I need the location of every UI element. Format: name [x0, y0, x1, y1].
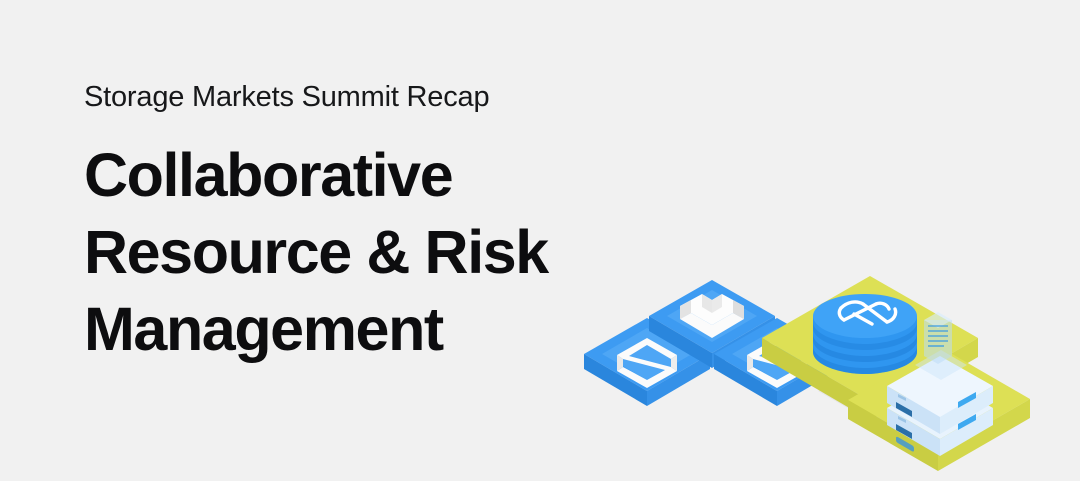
hero-text-block: Storage Markets Summit Recap Collaborati…: [84, 78, 604, 409]
hero-banner: Storage Markets Summit Recap Collaborati…: [0, 0, 1080, 481]
headline-line-3: Management: [84, 291, 604, 368]
database-cylinder: [813, 294, 917, 374]
headline-line-2: Resource & Risk: [84, 214, 604, 291]
isometric-illustration: [560, 228, 1030, 481]
page-title: Collaborative Resource & Risk Management: [84, 137, 604, 368]
headline-line-1: Collaborative: [84, 137, 604, 214]
eyebrow-label: Storage Markets Summit Recap: [84, 78, 604, 116]
